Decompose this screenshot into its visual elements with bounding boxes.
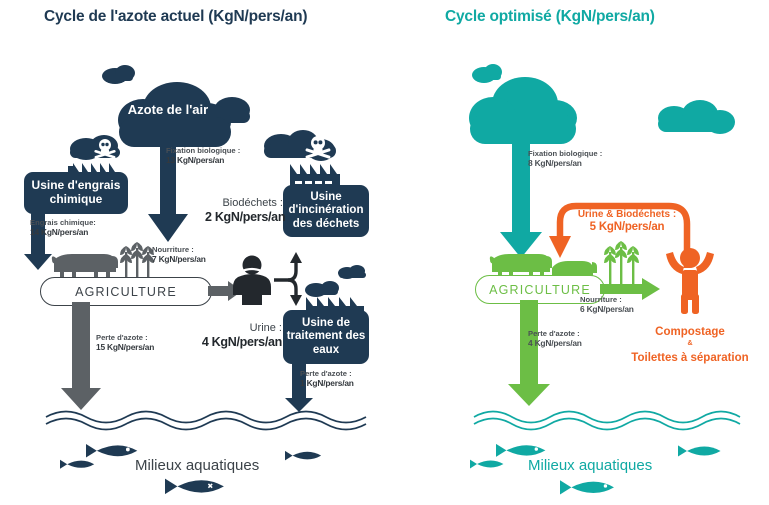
right-panel-title: Cycle optimisé (KgN/pers/an): [445, 8, 655, 26]
arrow-icon: [61, 302, 101, 412]
flow-label-nitrogen-loss-agriculture: Perte d'azote : 15 KgN/pers/an: [96, 334, 154, 353]
flow-label-biological-fixation-right: Fixation biologique : 8 KgN/pers/an: [528, 150, 602, 169]
cloud-icon: [652, 100, 738, 140]
incineration-plant-box: Usine d'incinération des déchets: [283, 185, 369, 237]
flow-label-nitrogen-loss-right: Perte d'azote : 4 KgN/pers/an: [528, 330, 582, 349]
fish-icon: [165, 474, 235, 502]
aquatic-label-left: Milieux aquatiques: [135, 457, 259, 474]
fish-icon: [285, 448, 321, 466]
cloud-icon: [305, 281, 339, 297]
arrow-icon: [500, 128, 542, 260]
person-icon: [232, 255, 272, 305]
fish-icon: [678, 442, 726, 464]
right-panel-optimised-cycle: Cycle optimisé (KgN/pers/an): [400, 0, 769, 505]
water-waves-icon: [474, 405, 730, 431]
person-arms-up-icon: [662, 232, 718, 314]
flow-label-urine: Urine : 4 KgN/pers/an: [198, 322, 282, 350]
cloud-icon: [335, 262, 369, 282]
cloud-icon: [465, 62, 625, 162]
water-treatment-plant-box: Usine de traitement des eaux: [283, 310, 369, 364]
fish-icon: [560, 476, 624, 502]
aquatic-label-right: Milieux aquatiques: [528, 457, 652, 474]
left-panel-current-cycle: Cycle de l'azote actuel (KgN/pers/an): [0, 0, 400, 505]
cloud-icon: [102, 65, 135, 84]
arrow-icon: [508, 300, 550, 408]
flow-label-urine-biowaste: Urine & Biodéchets : 5 KgN/pers/an: [567, 209, 687, 234]
fertilizer-plant-box: Usine d'engrais chimique: [24, 172, 128, 214]
compost-label: Compostage & Toilettes à séparation: [625, 322, 755, 367]
water-waves-icon: [46, 405, 376, 431]
flow-label-biological-fixation: Fixation biologique : 13 KgN/pers/an: [166, 147, 240, 166]
left-panel-title: Cycle de l'azote actuel (KgN/pers/an): [44, 8, 307, 26]
flow-label-food-right: Nourriture : 6 KgN/pers/an: [580, 296, 634, 315]
air-cloud-text: Azote de l'air: [118, 102, 218, 117]
flow-label-chemical-fertilizer: Engrais chimique: 14 KgN/pers/an: [30, 219, 96, 238]
flow-label-food: Nourriture : 7 KgN/pers/an: [152, 246, 206, 265]
flow-label-nitrogen-loss-water-plant: Perte d'azote : 1 KgN/pers/an: [300, 370, 354, 389]
flow-label-biowaste: Biodéchets : 2 KgN/pers/an: [205, 197, 283, 225]
